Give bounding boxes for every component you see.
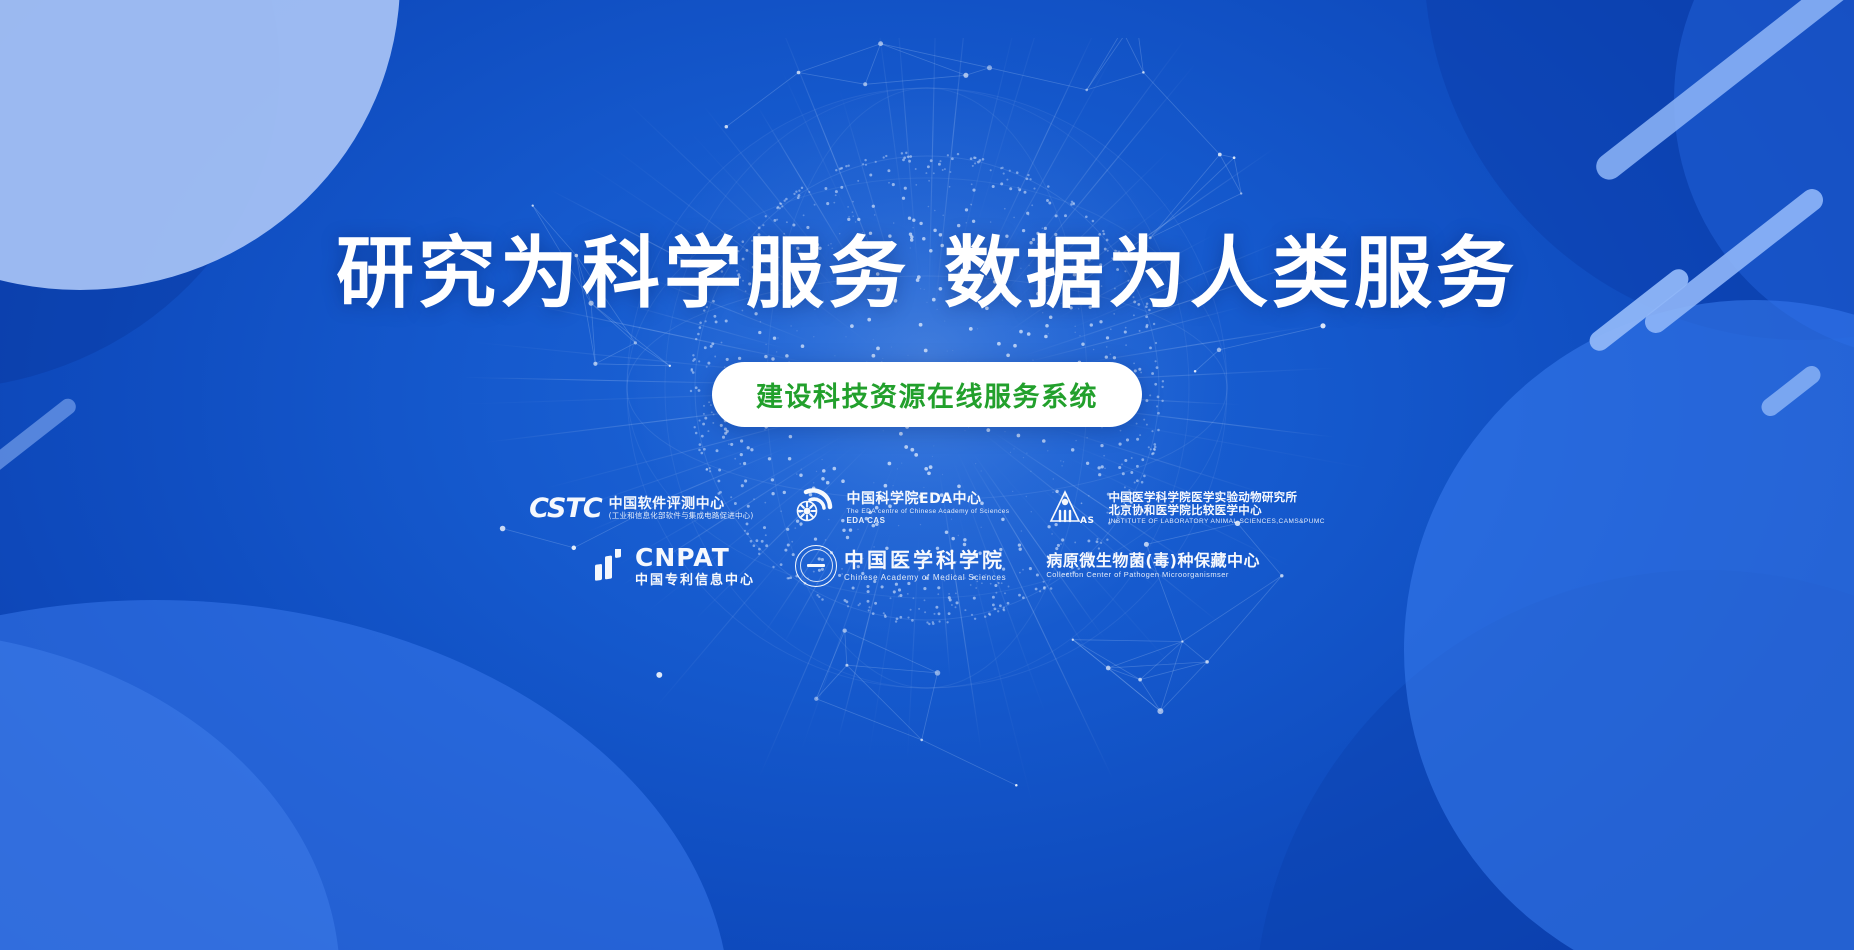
partner-logo-cstc[interactable]: CSTC 中国软件评测中心 (工业和信息化部软件与集成电路促进中心) (529, 493, 753, 524)
cams-logo-text: 中国医学科学院 Chinese Academy of Medical Scien… (844, 549, 1006, 582)
eda-cas-name-cn: 中国科学院EDA中心 (847, 491, 1010, 508)
ilas-name-cn-1: 中国医学科学院医学实验动物研究所 (1108, 491, 1324, 505)
partner-logo-eda-cas[interactable]: 中国科学院EDA中心 The EDA centre of Chinese Aca… (794, 488, 1010, 528)
cstc-name-sub: (工业和信息化部软件与集成电路促进中心) (609, 512, 754, 521)
partner-logo-ilas[interactable]: AS 中国医学科学院医学实验动物研究所 北京协和医学院比较医学中心 INSTIT… (1049, 487, 1324, 529)
eda-cas-name-en: The EDA centre of Chinese Academy of Sci… (847, 508, 1010, 516)
cnpat-logo-icon (594, 549, 628, 583)
cstc-name-cn: 中国软件评测中心 (609, 496, 754, 513)
cnpat-wordmark: CNPAT (635, 543, 755, 573)
hero-banner: 研究为科学服务数据为人类服务 建设科技资源在线服务系统 CSTC 中国软件评测中… (0, 0, 1854, 950)
ccpm-logo-text: 病原微生物菌(毒)种保藏中心 Collection Center of Path… (1046, 552, 1260, 580)
cstc-logo-text: 中国软件评测中心 (工业和信息化部软件与集成电路促进中心) (609, 496, 754, 521)
cta-button-label: 建设科技资源在线服务系统 (756, 375, 1098, 414)
ilas-name-cn-2: 北京协和医学院比较医学中心 (1108, 504, 1324, 518)
cta-button[interactable]: 建设科技资源在线服务系统 (712, 362, 1142, 427)
ccpm-name-en: Collection Center of Pathogen Microorgan… (1046, 571, 1260, 580)
partner-logo-ccpm[interactable]: 病原微生物菌(毒)种保藏中心 Collection Center of Path… (1046, 552, 1260, 580)
cnpat-logo-text: CNPAT 中国专利信息中心 (635, 543, 755, 588)
cams-seal-bar (807, 564, 825, 566)
eda-cas-logo-icon (794, 488, 840, 528)
svg-text:AS: AS (1080, 516, 1094, 526)
eda-cas-logo-text: 中国科学院EDA中心 The EDA centre of Chinese Aca… (847, 491, 1010, 525)
ilas-name-en: INSTITUTE OF LABORATORY ANIMAL SCIENCES,… (1108, 518, 1324, 526)
partner-logo-cnpat[interactable]: CNPAT 中国专利信息中心 (594, 543, 755, 588)
headline-right: 数据为人类服务 (944, 229, 1518, 319)
partner-logo-row-2: CNPAT 中国专利信息中心 中国医学科学院 Chinese Academy o… (594, 543, 1260, 588)
ilas-logo-text: 中国医学科学院医学实验动物研究所 北京协和医学院比较医学中心 INSTITUTE… (1108, 491, 1324, 526)
ccpm-name-cn: 病原微生物菌(毒)种保藏中心 (1046, 552, 1260, 571)
ilas-logo-icon: AS (1049, 487, 1101, 529)
partner-logo-cams[interactable]: 中国医学科学院 Chinese Academy of Medical Scien… (795, 545, 1006, 587)
headline-left: 研究为科学服务 (336, 229, 910, 319)
page-title: 研究为科学服务数据为人类服务 (336, 232, 1518, 316)
cstc-wordmark: CSTC (529, 493, 602, 524)
cstc-logo-icon: CSTC (529, 493, 602, 524)
partner-logo-row-1: CSTC 中国软件评测中心 (工业和信息化部软件与集成电路促进中心) (529, 487, 1325, 529)
cams-name-cn: 中国医学科学院 (844, 549, 1006, 573)
cnpat-name-cn: 中国专利信息中心 (635, 573, 755, 588)
cams-name-en: Chinese Academy of Medical Sciences (844, 573, 1006, 582)
eda-cas-abbr: EDA CAS (847, 516, 1010, 525)
partner-logos: CSTC 中国软件评测中心 (工业和信息化部软件与集成电路促进中心) (0, 487, 1854, 588)
cams-seal-icon (795, 545, 837, 587)
banner-content: 研究为科学服务数据为人类服务 建设科技资源在线服务系统 CSTC 中国软件评测中… (0, 0, 1854, 950)
